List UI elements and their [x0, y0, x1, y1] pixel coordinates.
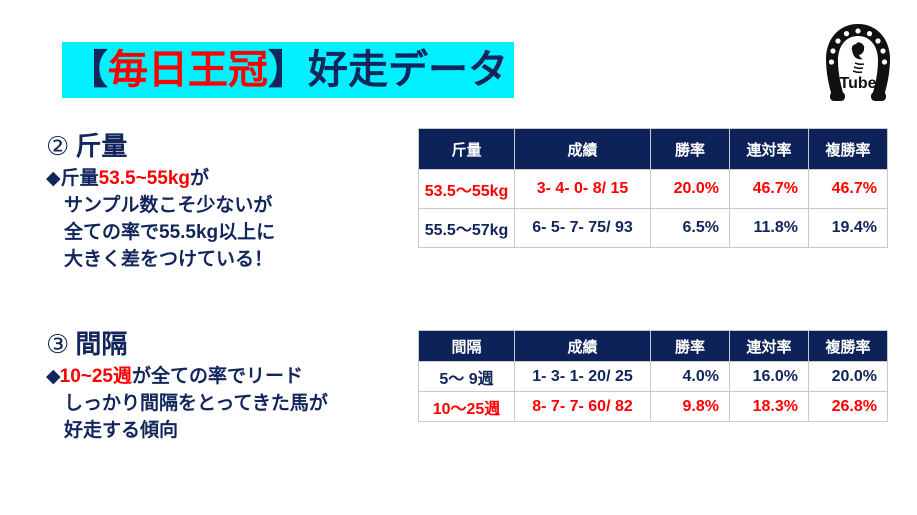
kinryo-data-table: 斤量 成績 勝率 連対率 複勝率 53.5〜55kg 3- 4- 0- 8/ 1… — [418, 128, 888, 248]
cell-quinella-rate: 11.8% — [730, 209, 809, 248]
page-title: 【毎日王冠】好走データ — [62, 42, 514, 98]
section-kankaku-line-1-a: ◆ — [46, 366, 60, 387]
section-kankaku-line-1: ◆10~25週が全ての率でリード — [46, 364, 426, 391]
header-seiseki: 成績 — [515, 129, 651, 170]
section-kankaku-line-1-c: が全ての率でリード — [132, 366, 303, 387]
cell-show-rate: 19.4% — [809, 209, 888, 248]
cell-quinella-rate: 46.7% — [730, 170, 809, 209]
section-kinryo-line-2: サンプル数こそ少ないが — [46, 193, 426, 220]
section-kinryo-line-1-highlight: 53.5~55kg — [99, 168, 190, 189]
section-kinryo-line-3: 全ての率で55.5kg以上に — [46, 220, 426, 247]
title-race-name: 毎日王冠 — [108, 50, 268, 90]
section-kankaku-line-3: 好走する傾向 — [46, 418, 426, 445]
section-kinryo-heading: ②斤量 — [46, 132, 426, 162]
cell-quinella-rate: 18.3% — [730, 392, 809, 422]
cell-kinryo-range: 55.5〜57kg — [419, 209, 515, 248]
table-header-row: 斤量 成績 勝率 連対率 複勝率 — [419, 129, 888, 170]
section-kankaku-number: ③ — [46, 329, 69, 359]
header-rentairitsu: 連対率 — [730, 129, 809, 170]
header-shouritsu: 勝率 — [651, 331, 730, 362]
cell-show-rate: 20.0% — [809, 362, 888, 392]
header-kinryo: 斤量 — [419, 129, 515, 170]
cell-show-rate: 46.7% — [809, 170, 888, 209]
table-row: 55.5〜57kg 6- 5- 7- 75/ 93 6.5% 11.8% 19.… — [419, 209, 888, 248]
cell-record: 8- 7- 7- 60/ 82 — [515, 392, 651, 422]
horseshoe-tube-logo: Tube — [818, 20, 898, 108]
section-kankaku-line-1-highlight: 10~25週 — [60, 366, 132, 387]
cell-win-rate: 6.5% — [651, 209, 730, 248]
table-row: 10〜25週 8- 7- 7- 60/ 82 9.8% 18.3% 26.8% — [419, 392, 888, 422]
table-row: 5〜 9週 1- 3- 1- 20/ 25 4.0% 16.0% 20.0% — [419, 362, 888, 392]
header-rentairitsu: 連対率 — [730, 331, 809, 362]
section-kinryo-line-1-c: が — [190, 168, 209, 189]
section-kinryo-line-1: ◆斤量53.5~55kgが — [46, 166, 426, 193]
cell-record: 6- 5- 7- 75/ 93 — [515, 209, 651, 248]
cell-win-rate: 9.8% — [651, 392, 730, 422]
section-kankaku-title: 間隔 — [75, 329, 127, 359]
cell-record: 1- 3- 1- 20/ 25 — [515, 362, 651, 392]
section-kinryo-line-4: 大きく差をつけている！ — [46, 247, 426, 274]
section-kankaku-heading: ③間隔 — [46, 330, 426, 360]
section-kankaku: ③間隔 ◆10~25週が全ての率でリード しっかり間隔をとってきた馬が 好走する… — [46, 330, 426, 445]
title-suffix: 好走データ — [308, 50, 508, 90]
section-kinryo: ②斤量 ◆斤量53.5~55kgが サンプル数こそ少ないが 全ての率で55.5k… — [46, 132, 426, 274]
header-kankaku: 間隔 — [419, 331, 515, 362]
header-fukushouritsu: 複勝率 — [809, 129, 888, 170]
table-header-row: 間隔 成績 勝率 連対率 複勝率 — [419, 331, 888, 362]
horse-head-icon — [852, 42, 864, 72]
table-row: 53.5〜55kg 3- 4- 0- 8/ 15 20.0% 46.7% 46.… — [419, 170, 888, 209]
title-bracket-open: 【 — [68, 50, 108, 90]
section-kinryo-title: 斤量 — [75, 131, 127, 161]
cell-kankaku-range: 10〜25週 — [419, 392, 515, 422]
section-kinryo-line-1-a: ◆斤量 — [46, 168, 99, 189]
logo-label: Tube — [839, 75, 876, 92]
section-kinryo-number: ② — [46, 131, 69, 161]
title-bracket-close: 】 — [268, 50, 308, 90]
kankaku-data-table: 間隔 成績 勝率 連対率 複勝率 5〜 9週 1- 3- 1- 20/ 25 4… — [418, 330, 888, 422]
cell-record: 3- 4- 0- 8/ 15 — [515, 170, 651, 209]
cell-kinryo-range: 53.5〜55kg — [419, 170, 515, 209]
header-seiseki: 成績 — [515, 331, 651, 362]
header-fukushouritsu: 複勝率 — [809, 331, 888, 362]
cell-quinella-rate: 16.0% — [730, 362, 809, 392]
header-shouritsu: 勝率 — [651, 129, 730, 170]
section-kankaku-line-2: しっかり間隔をとってきた馬が — [46, 391, 426, 418]
cell-win-rate: 4.0% — [651, 362, 730, 392]
cell-show-rate: 26.8% — [809, 392, 888, 422]
cell-win-rate: 20.0% — [651, 170, 730, 209]
cell-kankaku-range: 5〜 9週 — [419, 362, 515, 392]
